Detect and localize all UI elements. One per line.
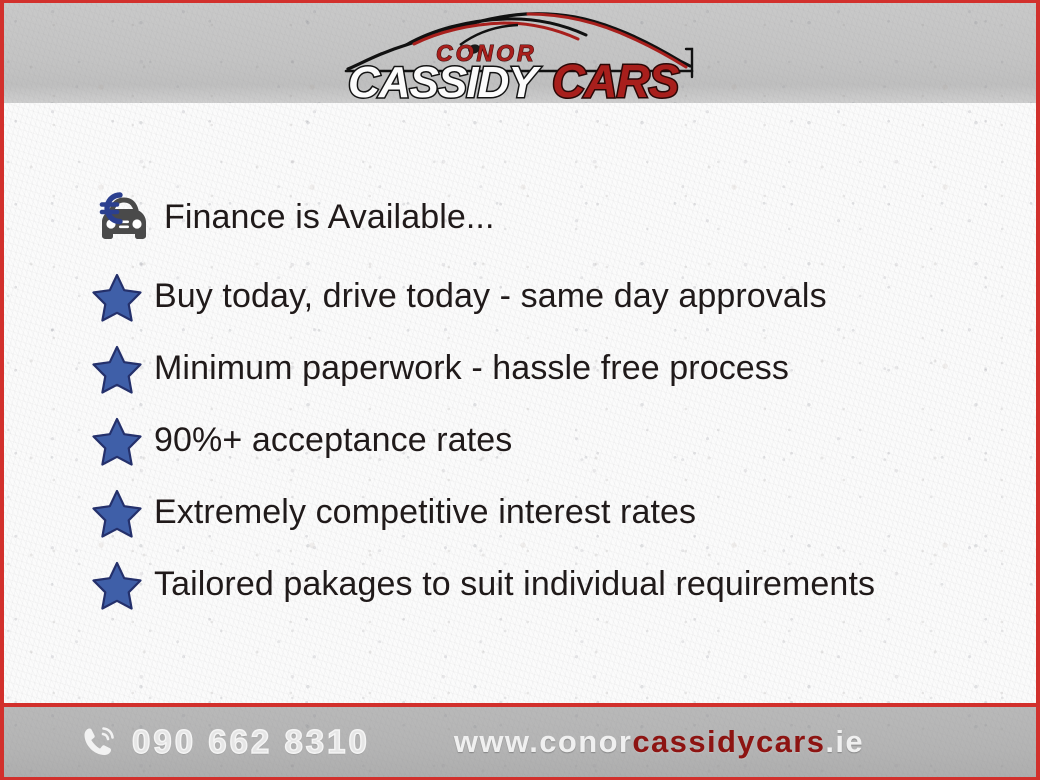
phone-contact[interactable]: 090 662 8310 [78,722,370,762]
promotional-poster: CONOR CASSIDY CARS [0,0,1040,780]
list-item-label: Minimum paperwork - hassle free process [154,350,789,387]
list-item-label: Extremely competitive interest rates [154,494,696,531]
star-icon [92,560,154,610]
header-band: CONOR CASSIDY CARS [4,3,1036,103]
list-item: 90%+ acceptance rates [4,405,1036,477]
phone-icon [78,722,118,762]
star-icon [92,344,154,394]
website-url[interactable]: www.conorcassidycars.ie [454,724,864,760]
list-item: Extremely competitive interest rates [4,477,1036,549]
phone-number[interactable]: 090 662 8310 [132,723,370,761]
list-item: Finance is Available... [4,175,1036,261]
company-logo[interactable]: CONOR CASSIDY CARS [340,5,700,103]
website-highlight: cassidycars [632,724,825,759]
website-prefix: www.conor [454,724,633,759]
star-icon [92,272,154,322]
list-item: Minimum paperwork - hassle free process [4,333,1036,405]
feature-list: Finance is Available... Buy today, drive… [4,175,1036,621]
star-icon [92,416,154,466]
star-icon [92,488,154,538]
car-finance-euro-icon [92,186,164,250]
list-item-label: Buy today, drive today - same day approv… [154,278,827,315]
logo-text-cars: CARS [552,55,680,103]
website-suffix: .ie [825,724,864,759]
list-item: Buy today, drive today - same day approv… [4,261,1036,333]
list-item-label: Tailored pakages to suit individual requ… [154,566,875,603]
list-item-label: Finance is Available... [164,199,495,236]
main-content: Finance is Available... Buy today, drive… [4,103,1036,703]
footer-band: 090 662 8310 www.conorcassidycars.ie [4,703,1036,777]
logo-text-cassidy: CASSIDY [348,58,541,103]
list-item: Tailored pakages to suit individual requ… [4,549,1036,621]
list-item-label: 90%+ acceptance rates [154,422,512,459]
